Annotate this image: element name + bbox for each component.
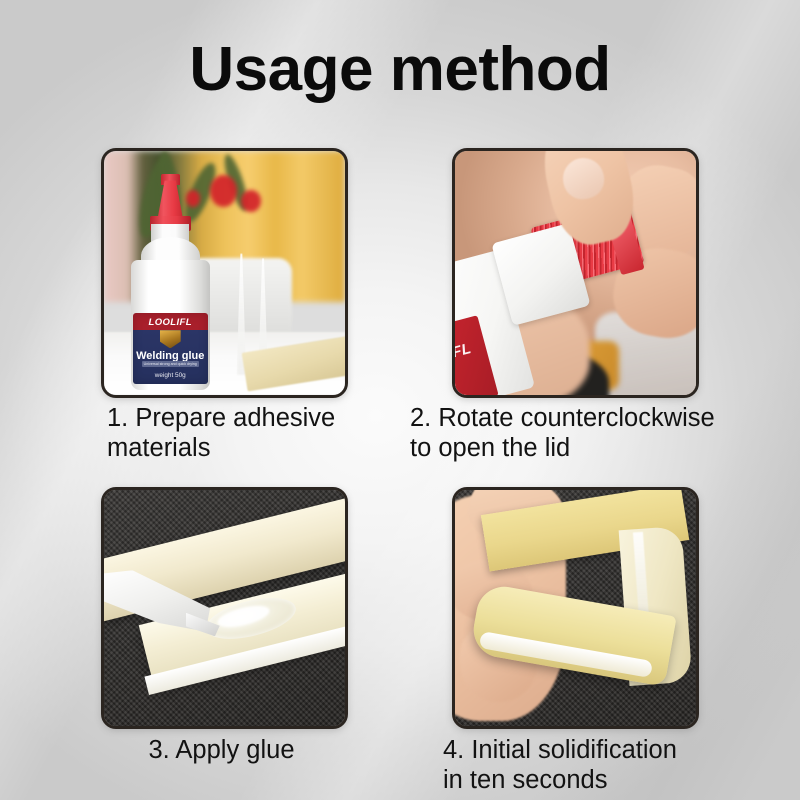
cap-cone bbox=[153, 178, 188, 218]
product-label: LOOLIFL Welding glue Universal strong an… bbox=[133, 313, 208, 383]
bottle-body: LOOLIFL Welding glue Universal strong an… bbox=[131, 260, 211, 390]
step-1-photo-panel: LOOLIFL Welding glue Universal strong an… bbox=[101, 148, 348, 398]
flower-shape bbox=[241, 190, 260, 212]
step-1-caption: 1. Prepare adhesive materials bbox=[107, 404, 377, 464]
label-tagline: Universal strong and quick drying bbox=[142, 361, 199, 367]
label-weight: weight 50g bbox=[133, 372, 208, 379]
label-brand: LOOLIFL bbox=[133, 317, 208, 328]
step-2-caption: 2. Rotate counterclockwise to open the l… bbox=[410, 404, 740, 464]
applying-glue-to-strip-photo bbox=[104, 490, 345, 726]
label-product-name: Welding glue bbox=[133, 350, 208, 362]
step-4-photo-panel bbox=[452, 487, 699, 729]
page-title: Usage method bbox=[0, 34, 800, 105]
usage-method-poster: Usage method bbox=[0, 0, 800, 800]
step-4-caption: 4. Initial solidification in ten seconds bbox=[443, 736, 743, 796]
flower-shape bbox=[210, 175, 237, 207]
step-3-caption: 3. Apply glue bbox=[101, 736, 342, 766]
step-2-photo-panel: LIFL bbox=[452, 148, 699, 398]
crest-icon bbox=[160, 330, 181, 348]
step-3-photo-panel bbox=[101, 487, 348, 729]
glue-bottle-on-table-photo: LOOLIFL Welding glue Universal strong an… bbox=[104, 151, 345, 395]
glue-bottle: LOOLIFL Welding glue Universal strong an… bbox=[131, 180, 211, 390]
unscrewing-red-cap-photo: LIFL bbox=[455, 151, 696, 395]
bonded-strips-loop-photo bbox=[455, 490, 696, 726]
